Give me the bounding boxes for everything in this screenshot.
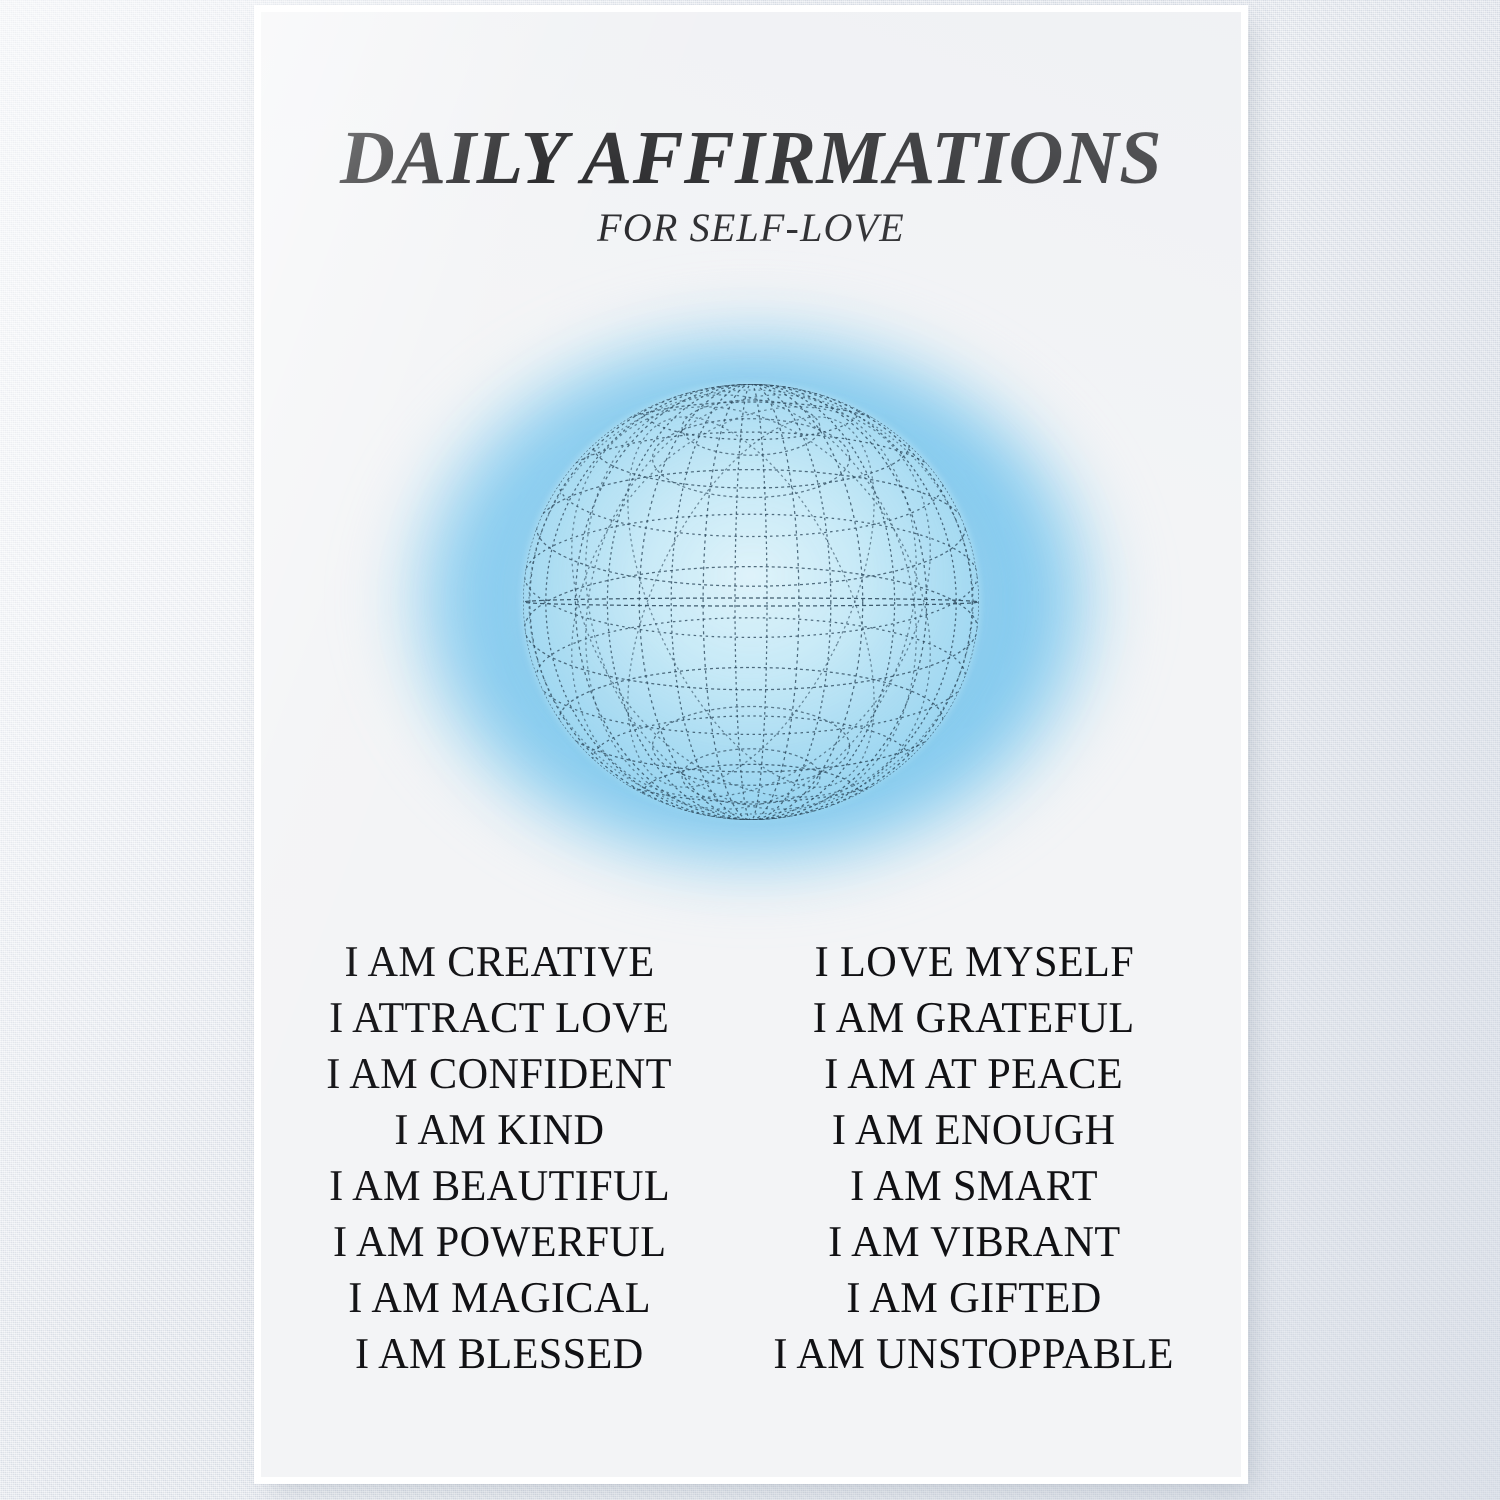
sphere-wireframe-svg xyxy=(513,374,989,830)
affirmation-line: I AM CONFIDENT xyxy=(327,1046,673,1102)
affirmation-line: I AM VIBRANT xyxy=(828,1214,1121,1270)
affirmation-line: I AM POWERFUL xyxy=(333,1214,667,1270)
affirmation-line: I AM BLESSED xyxy=(355,1326,644,1382)
affirmation-line: I AM CREATIVE xyxy=(344,934,654,990)
poster-heading: DAILY AFFIRMATIONS FOR SELF-LOVE xyxy=(261,120,1241,248)
affirmation-line: I AM MAGICAL xyxy=(348,1270,651,1326)
affirmations-list: I AM CREATIVEI ATTRACT LOVEI AM CONFIDEN… xyxy=(261,934,1241,1382)
affirmation-line: I AM GRATEFUL xyxy=(813,990,1135,1046)
affirmation-line: I AM AT PEACE xyxy=(825,1046,1124,1102)
scene: DAILY AFFIRMATIONS FOR SELF-LOVE I AM CR… xyxy=(0,0,1500,1500)
page-title: DAILY AFFIRMATIONS xyxy=(261,120,1241,198)
affirmation-line: I AM KIND xyxy=(394,1102,604,1158)
affirmations-left-column: I AM CREATIVEI ATTRACT LOVEI AM CONFIDEN… xyxy=(319,934,679,1382)
affirmation-line: I ATTRACT LOVE xyxy=(329,990,669,1046)
affirmation-line: I AM GIFTED xyxy=(846,1270,1101,1326)
page-subtitle: FOR SELF-LOVE xyxy=(261,208,1241,248)
poster: DAILY AFFIRMATIONS FOR SELF-LOVE I AM CR… xyxy=(261,12,1241,1477)
affirmation-line: I AM UNSTOPPABLE xyxy=(774,1326,1175,1382)
affirmation-line: I AM SMART xyxy=(850,1158,1098,1214)
affirmations-right-column: I LOVE MYSELFI AM GRATEFULI AM AT PEACEI… xyxy=(765,934,1182,1382)
wireframe-sphere-graphic xyxy=(513,374,989,830)
affirmation-line: I AM ENOUGH xyxy=(832,1102,1115,1158)
affirmation-line: I AM BEAUTIFUL xyxy=(329,1158,670,1214)
affirmation-line: I LOVE MYSELF xyxy=(814,934,1133,990)
